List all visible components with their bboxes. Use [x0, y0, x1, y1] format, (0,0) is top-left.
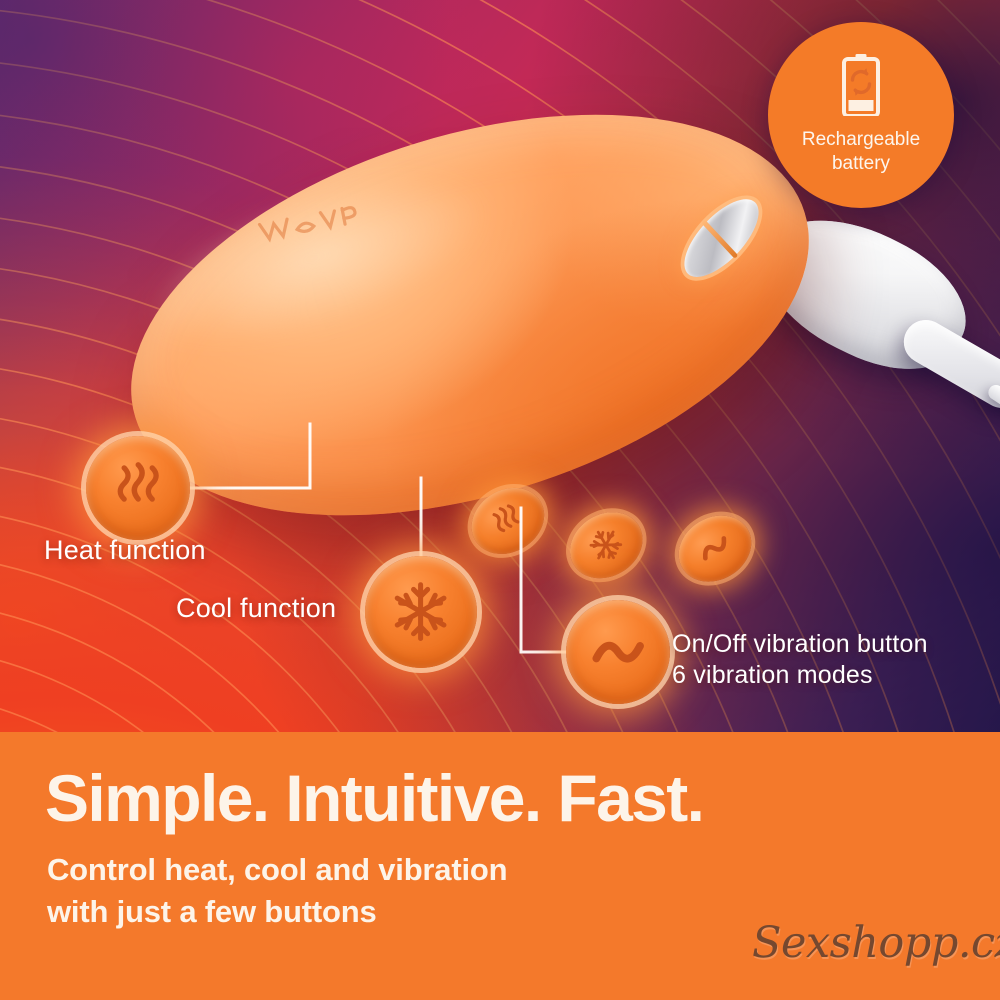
device-button-heat[interactable]	[459, 475, 556, 567]
rechargeable-battery-icon	[841, 54, 881, 116]
charging-contacts	[672, 188, 771, 290]
product-device	[120, 135, 840, 555]
banner-subtext-line2: with just a few buttons	[47, 891, 507, 933]
rechargeable-battery-label: Rechargeable battery	[802, 128, 920, 176]
banner-subtext: Control heat, cool and vibration with ju…	[47, 849, 507, 933]
snowflake-icon	[577, 518, 635, 573]
battery-label-line2: battery	[802, 152, 920, 176]
product-feature-image: Heat function Cool function On/Off vibra…	[0, 0, 1000, 1000]
heat-waves-icon	[107, 457, 169, 519]
device-highlight	[129, 127, 592, 412]
wave-tilde-icon	[686, 521, 744, 576]
callout-label-heat: Heat function	[44, 534, 206, 567]
rechargeable-battery-badge: Rechargeable battery	[768, 22, 954, 208]
wave-tilde-icon	[587, 621, 649, 683]
battery-label-line1: Rechargeable	[802, 128, 920, 152]
callout-label-vibration-line1: On/Off vibration button	[672, 629, 928, 660]
banner-headline: Simple. Intuitive. Fast.	[45, 760, 703, 836]
watermark: Sexshopp.cz	[752, 918, 1000, 968]
heat-waves-icon	[479, 493, 537, 548]
snowflake-icon	[387, 578, 454, 645]
callout-label-cool: Cool function	[176, 592, 336, 625]
callout-label-vibration-line2: 6 vibration modes	[672, 660, 928, 691]
callout-heat[interactable]	[86, 436, 190, 540]
callout-vibration[interactable]	[566, 600, 670, 704]
banner-subtext-line1: Control heat, cool and vibration	[47, 849, 507, 891]
callout-label-vibration: On/Off vibration button 6 vibration mode…	[672, 629, 928, 690]
callout-cool[interactable]	[365, 556, 477, 668]
